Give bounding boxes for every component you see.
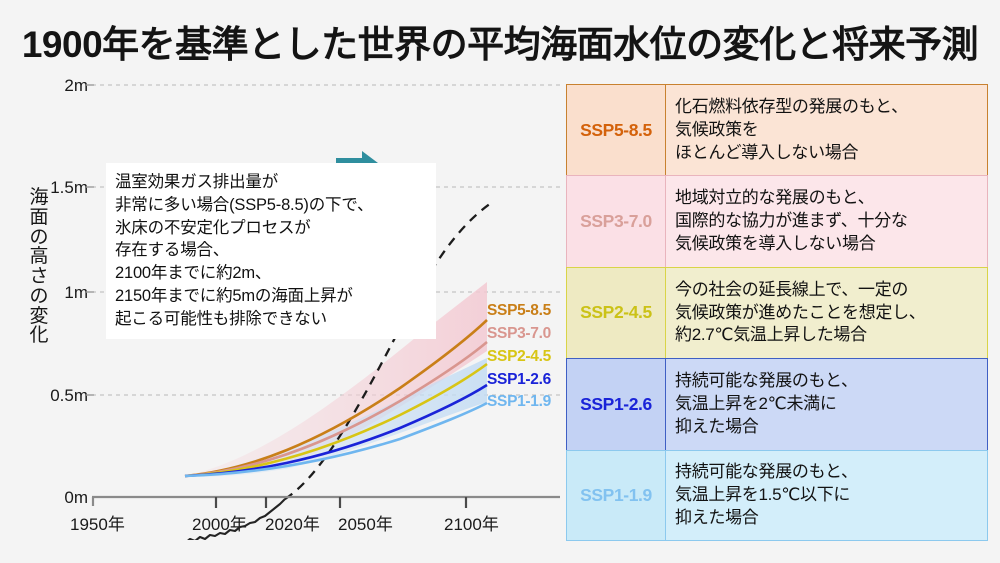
historical-line [95, 499, 285, 540]
scenario-description-line: 気候政策を導入しない場合 [675, 233, 981, 256]
series-label-ssp3-7-0: SSP3-7.0 [487, 325, 551, 343]
table-row: SSP5-8.5 化石燃料依存型の発展のもと、 気候政策を ほとんど導入しない場… [566, 84, 988, 175]
scenario-description-line: 持続可能な発展のもと、 [675, 461, 981, 484]
scenario-description-line: 約2.7℃気温上昇した場合 [675, 324, 981, 347]
scenario-description: 今の社会の延長線上で、一定の 気候政策が進めたことを想定し、 約2.7℃気温上昇… [666, 268, 987, 358]
scenario-description: 持続可能な発展のもと、 気温上昇を2℃未満に 抑えた場合 [666, 359, 987, 449]
scenario-description: 化石燃料依存型の発展のもと、 気候政策を ほとんど導入しない場合 [666, 85, 987, 175]
y-tick-marks [86, 85, 94, 395]
scenario-table: SSP5-8.5 化石燃料依存型の発展のもと、 気候政策を ほとんど導入しない場… [566, 84, 988, 541]
scenario-description-line: 気候政策が進めたことを想定し、 [675, 302, 981, 325]
table-row: SSP3-7.0 地域対立的な発展のもと、 国際的な協力が進まず、十分な 気候政… [566, 175, 988, 266]
annotation-line: 氷床の不安定化プロセスが [115, 217, 426, 240]
annotation-line: 温室効果ガス排出量が [115, 171, 426, 194]
scenario-code: SSP1-1.9 [567, 451, 666, 540]
series-label-ssp1-2-6: SSP1-2.6 [487, 371, 551, 389]
scenario-description-line: 国際的な協力が進まず、十分な [675, 210, 981, 233]
series-label-ssp1-1-9: SSP1-1.9 [487, 393, 551, 411]
scenario-description-line: 気温上昇を1.5℃以下に [675, 484, 981, 507]
annotation-callout: 温室効果ガス排出量が 非常に多い場合(SSP5-8.5)の下で、 氷床の不安定化… [106, 163, 436, 339]
x-axis [92, 497, 560, 508]
series-label-ssp5-8-5: SSP5-8.5 [487, 302, 551, 320]
series-label-ssp2-4-5: SSP2-4.5 [487, 348, 551, 366]
scenario-description-line: 気温上昇を2℃未満に [675, 393, 981, 416]
scenario-description-line: 抑えた場合 [675, 416, 981, 439]
sea-level-chart: 海 面 の 高 さ の 変 化 2m 1.5m 1m 0.5m 0m 1950年… [0, 70, 560, 540]
table-row: SSP1-2.6 持続可能な発展のもと、 気温上昇を2℃未満に 抑えた場合 [566, 358, 988, 449]
annotation-line: 起こる可能性も排除できない [115, 308, 426, 331]
scenario-description-line: 地域対立的な発展のもと、 [675, 187, 981, 210]
annotation-line: 非常に多い場合(SSP5-8.5)の下で、 [115, 194, 426, 217]
scenario-code: SSP5-8.5 [567, 85, 666, 175]
page-title: 1900年を基準とした世界の平均海面水位の変化と将来予測 [0, 14, 1000, 68]
scenario-code: SSP2-4.5 [567, 268, 666, 358]
scenario-description-line: 今の社会の延長線上で、一定の [675, 279, 981, 302]
scenario-description: 持続可能な発展のもと、 気温上昇を1.5℃以下に 抑えた場合 [666, 451, 987, 540]
chart-page: 1900年を基準とした世界の平均海面水位の変化と将来予測 海 面 の 高 さ の… [0, 0, 1000, 563]
annotation-line: 2100年までに約2m、 [115, 262, 426, 285]
table-row: SSP1-1.9 持続可能な発展のもと、 気温上昇を1.5℃以下に 抑えた場合 [566, 450, 988, 541]
scenario-description-line: 抑えた場合 [675, 507, 981, 530]
table-row: SSP2-4.5 今の社会の延長線上で、一定の 気候政策が進めたことを想定し、 … [566, 267, 988, 358]
scenario-description-line: ほとんど導入しない場合 [675, 142, 981, 165]
annotation-line: 存在する場合、 [115, 239, 426, 262]
scenario-description-line: 気候政策を [675, 119, 981, 142]
scenario-code: SSP1-2.6 [567, 359, 666, 449]
annotation-line: 2150年までに約5mの海面上昇が [115, 285, 426, 308]
scenario-code: SSP3-7.0 [567, 176, 666, 266]
scenario-description: 地域対立的な発展のもと、 国際的な協力が進まず、十分な 気候政策を導入しない場合 [666, 176, 987, 266]
scenario-description-line: 化石燃料依存型の発展のもと、 [675, 96, 981, 119]
scenario-description-line: 持続可能な発展のもと、 [675, 370, 981, 393]
